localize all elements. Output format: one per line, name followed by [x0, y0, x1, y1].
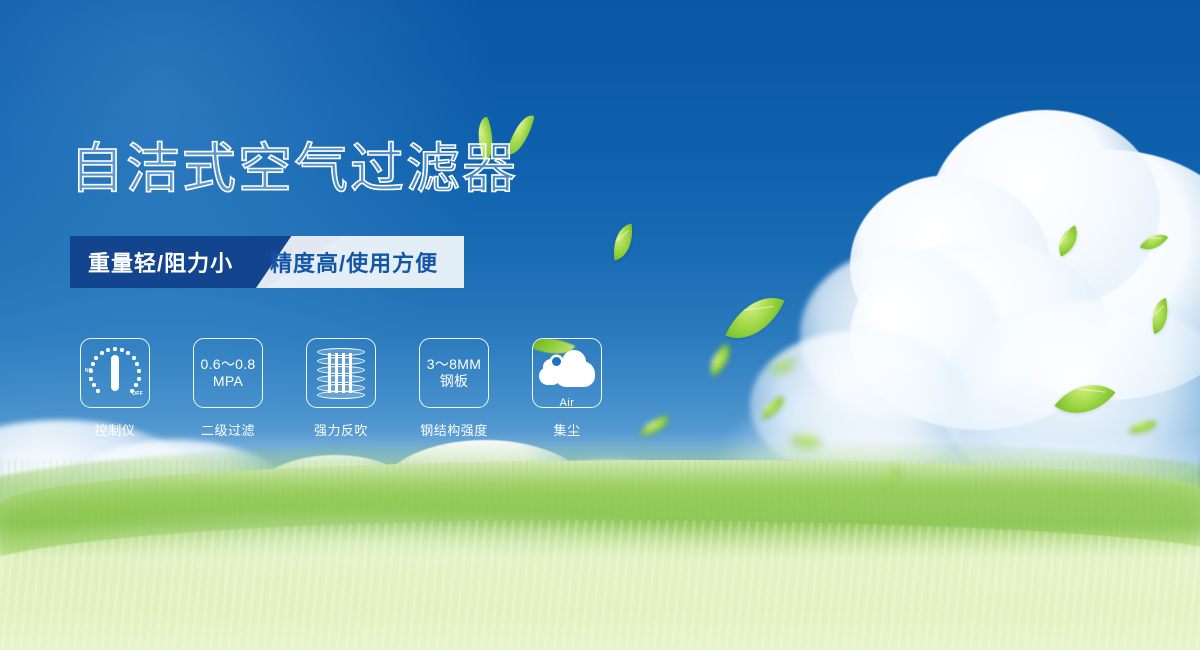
feature-label: 控制仪: [80, 420, 150, 439]
feature-item-blowback[interactable]: 强力反吹: [306, 338, 376, 439]
subtitle-left-text: 重量轻/阻力小: [88, 236, 233, 288]
hero-banner: 自洁式空气过滤器 重量轻/阻力小 精度高/使用方便: [0, 0, 1200, 650]
air-label: Air: [539, 397, 595, 408]
pressure-range: 0.6～0.8: [200, 356, 255, 372]
feature-icon-box: NO OFF: [80, 338, 150, 408]
feature-icon-box: [306, 338, 376, 408]
pressure-unit: MPA: [200, 373, 255, 391]
feature-label: 强力反吹: [306, 420, 376, 439]
floating-leaf: [1129, 419, 1156, 436]
feature-label: 集尘: [532, 420, 602, 439]
feature-item-dust-collection[interactable]: Air 集尘: [532, 338, 602, 439]
cloud-body: [555, 361, 595, 387]
page-title: 自洁式空气过滤器: [70, 142, 518, 196]
feature-label: 钢结构强度: [419, 420, 489, 439]
feature-item-controller[interactable]: NO OFF 控制仪: [80, 338, 150, 439]
air-cloud-icon: Air: [539, 349, 595, 393]
feature-list: NO OFF 控制仪 0.6～0.8 MPA 二级过滤: [80, 338, 602, 439]
gauge-needle: [111, 355, 119, 391]
pressure-text: 0.6～0.8 MPA: [200, 356, 255, 391]
gauge-no-label: NO: [85, 368, 93, 374]
feature-label: 二级过滤: [193, 420, 263, 439]
cloud-swirl: [552, 357, 561, 366]
filter-stack-icon: [317, 348, 365, 398]
feature-icon-box: 0.6～0.8 MPA: [193, 338, 263, 408]
subtitle-bar: 重量轻/阻力小 精度高/使用方便: [70, 236, 464, 288]
feature-item-steel-strength[interactable]: 3～8MM 钢板 钢结构强度: [419, 338, 489, 439]
feature-icon-box: 3～8MM 钢板: [419, 338, 489, 408]
subtitle-right-text: 精度高/使用方便: [270, 236, 438, 288]
grass-foreground: [0, 520, 1200, 650]
floating-leaf: [610, 224, 637, 261]
steel-plate-text: 3～8MM 钢板: [427, 356, 481, 391]
steel-thickness: 3～8MM: [427, 356, 481, 372]
steel-material: 钢板: [427, 373, 481, 391]
gauge-icon: NO OFF: [86, 344, 144, 402]
gauge-off-label: OFF: [132, 391, 143, 397]
feature-item-two-stage-filter[interactable]: 0.6～0.8 MPA 二级过滤: [193, 338, 263, 439]
cloud-puff-small: [539, 367, 561, 385]
feature-icon-box: Air: [532, 338, 602, 408]
